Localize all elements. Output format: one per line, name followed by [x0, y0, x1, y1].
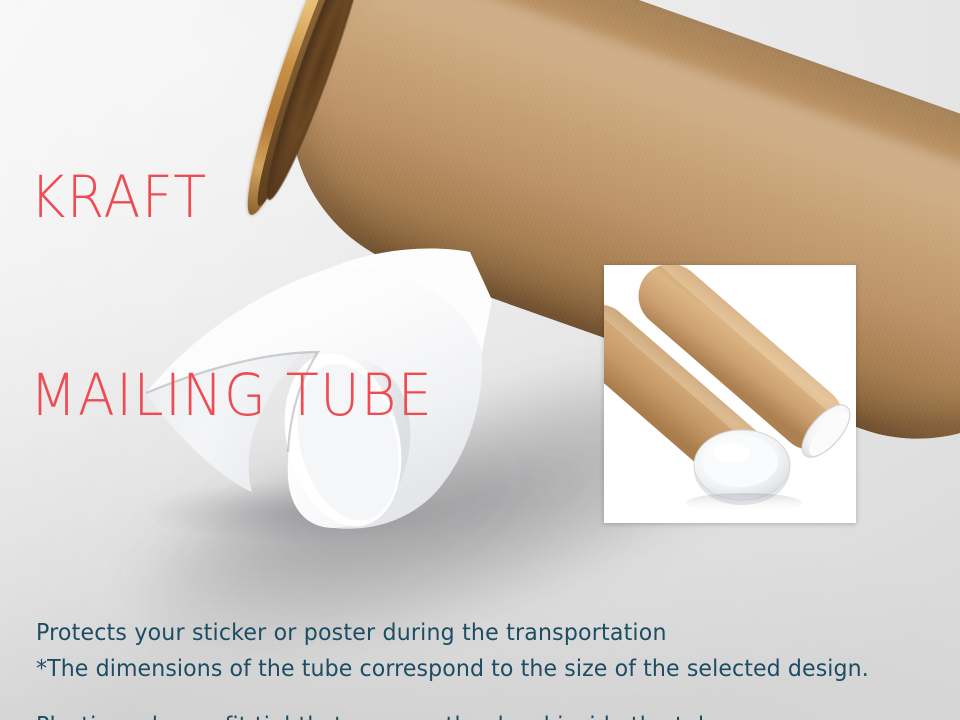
inset-photo-content: [604, 265, 856, 523]
end-caps-inset-photo[interactable]: [604, 265, 856, 523]
title-line-2: MAILING TUBE: [30, 362, 433, 428]
product-title: KRAFT MAILING TUBE: [30, 32, 433, 560]
title-line-1: KRAFT: [30, 164, 433, 230]
inset-illustration: [604, 265, 856, 523]
benefit-line-2: Plastic end caps fit tightly to secure t…: [36, 711, 726, 720]
dimension-disclaimer: *The dimensions of the tube correspond t…: [36, 655, 869, 684]
product-banner: KRAFT MAILING TUBE Protects your sticker…: [0, 0, 960, 720]
benefit-list: Protects your sticker or poster during t…: [36, 556, 726, 720]
benefit-line-1: Protects your sticker or poster during t…: [36, 618, 726, 649]
